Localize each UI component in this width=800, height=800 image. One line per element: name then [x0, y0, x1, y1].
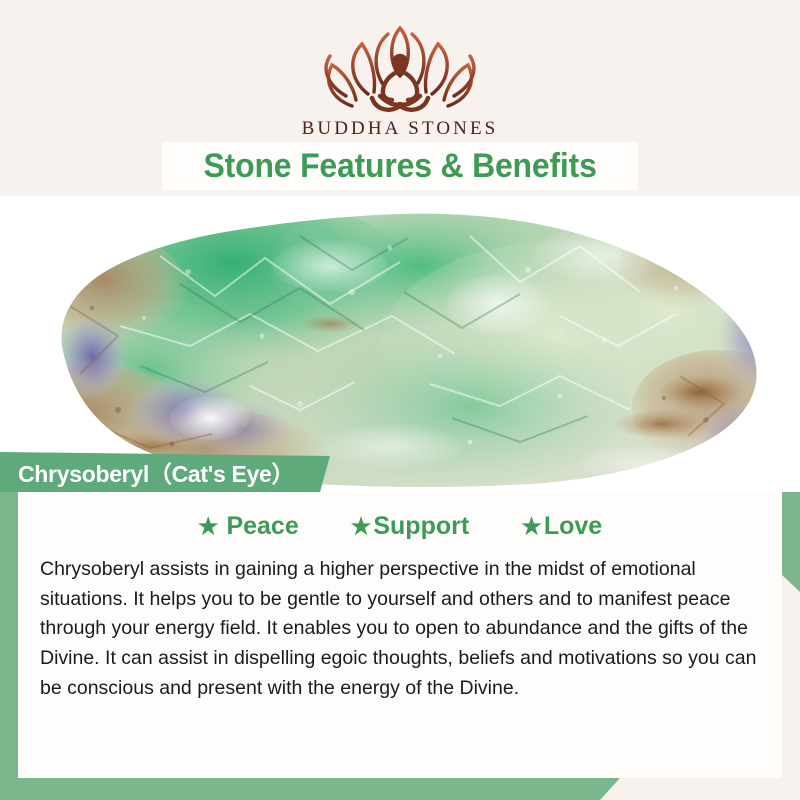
brand-logo: BUDDHA STONES	[0, 18, 800, 140]
stone-name-banner: Chrysoberyl（Cat's Eye）	[0, 452, 330, 492]
lotus-meditation-figure-icon	[310, 18, 490, 114]
frame-bottom-bar	[0, 778, 620, 800]
star-icon: ★	[521, 515, 542, 538]
keyword-label: Support	[373, 512, 469, 541]
header: BUDDHA STONES Stone Features & Benefits	[0, 0, 800, 198]
stone-photo-image	[0, 196, 800, 492]
star-icon: ★	[351, 515, 372, 538]
stone-description: Chrysoberyl assists in gaining a higher …	[40, 555, 760, 703]
title-banner: Stone Features & Benefits	[162, 142, 638, 190]
stone-name-label: Chrysoberyl（Cat's Eye）	[0, 455, 294, 489]
star-icon: ★	[198, 515, 219, 538]
page-title: Stone Features & Benefits	[203, 147, 596, 186]
keyword-label: Love	[544, 512, 602, 541]
brand-name: BUDDHA STONES	[0, 118, 800, 140]
keyword-love: ★ Love	[521, 512, 602, 541]
content-card: ★ Peace ★ Support ★ Love Chrysoberyl ass…	[18, 492, 782, 778]
keyword-label: Peace	[226, 512, 298, 541]
stone-photo	[0, 196, 800, 492]
keyword-list: ★ Peace ★ Support ★ Love	[18, 492, 782, 541]
keyword-peace: ★ Peace	[198, 512, 299, 541]
keyword-support: ★ Support	[351, 512, 469, 541]
